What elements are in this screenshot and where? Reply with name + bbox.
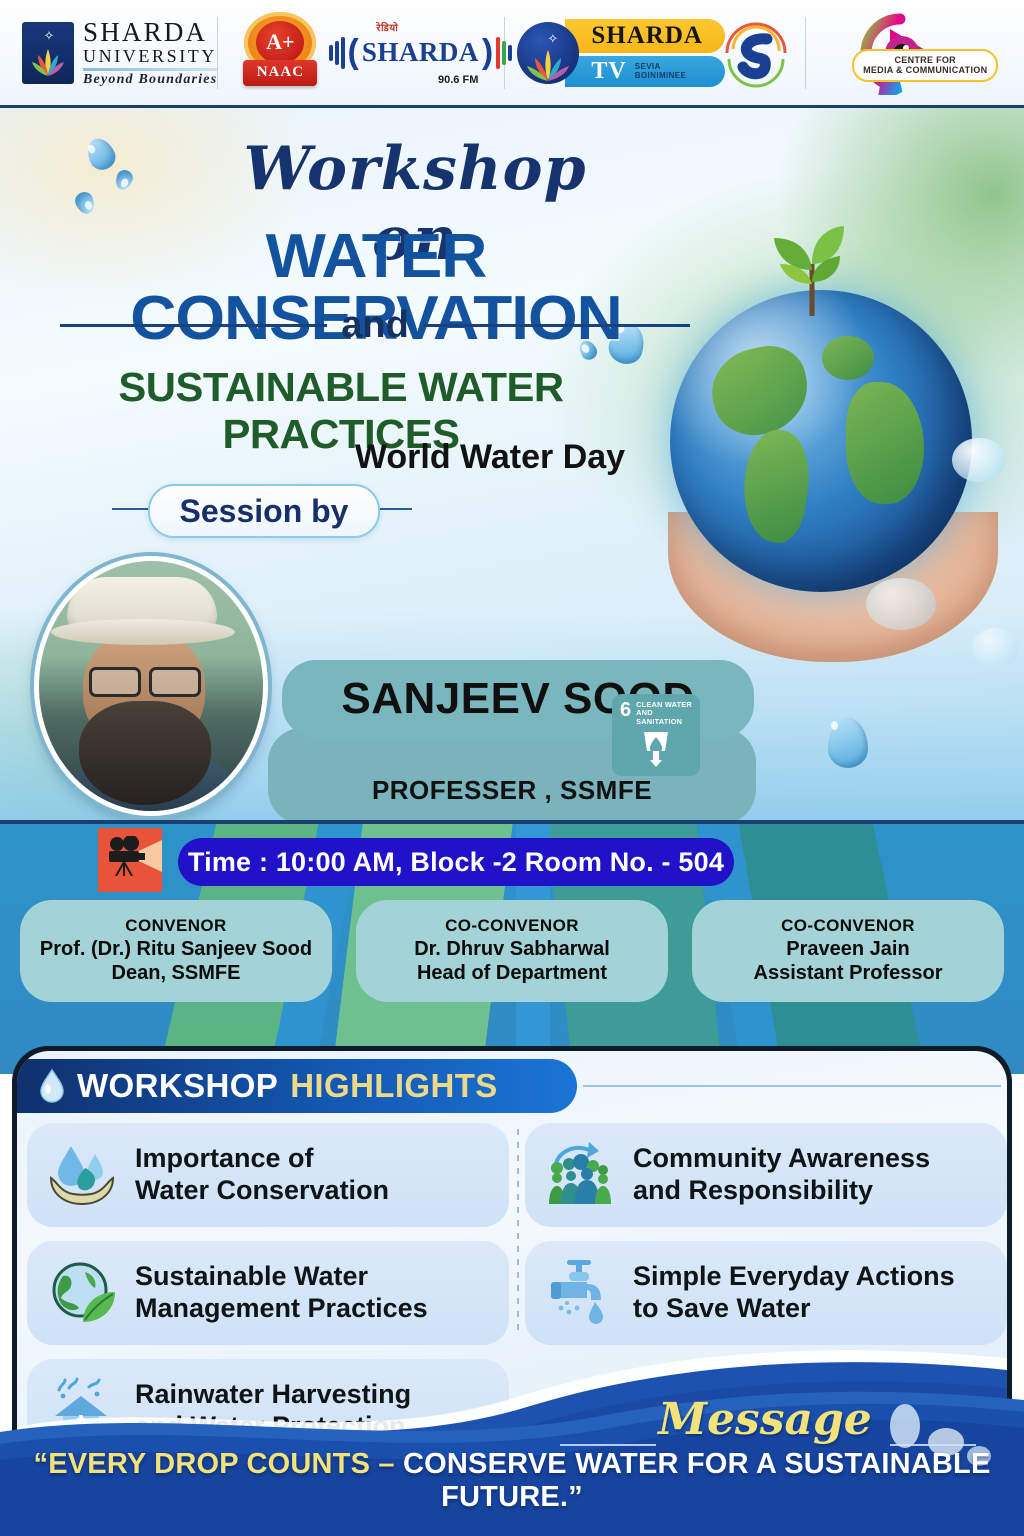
sdg-label-line2: AND SANITATION — [636, 709, 692, 726]
lotus-icon — [30, 47, 66, 77]
sponsor-logo-bar: ✧ SHARDA UNIVERSITY Beyond Boundaries — [0, 0, 1024, 108]
tv-tagline: SEVIA BOINIMINEE — [635, 62, 703, 80]
highlight-line1: Importance of — [135, 1143, 389, 1175]
time-venue-pill: Time : 10:00 AM, Block -2 Room No. - 504 — [178, 838, 734, 886]
highlights-heading-word1: WORKSHOP — [77, 1067, 278, 1105]
sharda-tv-globe-icon: ✧ — [517, 22, 579, 84]
people-group-icon — [543, 1138, 617, 1212]
organiser-card: CO-CONVENOR Dr. Dhruv Sabharwal Head of … — [356, 900, 668, 1002]
organiser-designation: Dean, SSMFE — [112, 961, 241, 985]
highlight-line2: and Responsibility — [633, 1175, 930, 1207]
hero-section: Workshop on WATER CONSERVATION and SUSTA… — [0, 108, 1024, 820]
splash-icon — [972, 628, 1018, 668]
left-paren: ( — [348, 33, 359, 72]
title-connector: and — [341, 304, 409, 347]
message-rule-right — [890, 1444, 976, 1446]
organiser-role: CONVENOR — [125, 916, 226, 937]
session-by-badge: Session by — [148, 484, 380, 538]
divider — [83, 68, 217, 71]
highlights-heading-word2: HIGHLIGHTS — [290, 1067, 498, 1105]
time-venue-text: Time : 10:00 AM, Block -2 Room No. - 504 — [188, 847, 724, 878]
list-item: Importance of Water Conservation — [27, 1123, 509, 1227]
lotus-star-emblem-icon: ✧ — [22, 22, 74, 84]
university-name-line2: UNIVERSITY — [83, 47, 217, 65]
occasion-label: World Water Day — [280, 438, 700, 477]
sharda-fm-radio-logo: रेडियो ( SHARDA ) 90.6 FM — [336, 0, 504, 105]
organiser-card: CO-CONVENOR Praveen Jain Assistant Profe… — [692, 900, 1004, 1002]
radio-frequency: 90.6 FM — [438, 74, 478, 86]
radio-name: SHARDA — [362, 37, 479, 68]
water-glass-drop-icon — [639, 729, 673, 767]
film-projector-icon — [98, 828, 162, 892]
organiser-designation: Assistant Professor — [754, 961, 943, 985]
rule-left — [60, 324, 327, 327]
tv-channel-label: TV — [591, 58, 626, 85]
organiser-name: Dr. Dhruv Sabharwal — [414, 937, 610, 961]
swirl-s-logo-icon — [717, 15, 795, 91]
splash-icon — [952, 438, 1006, 482]
session-by-label: Session by — [180, 493, 349, 530]
message-quote: “EVERY DROP COUNTS – CONSERVE WATER FOR … — [0, 1448, 1024, 1514]
sharda-tv-logo: ✧ SHARDA TV SEVIA BOINIMINEE — [517, 0, 713, 105]
organiser-name: Prof. (Dr.) Ritu Sanjeev Sood — [40, 937, 312, 961]
hands-holding-water-drop-icon — [45, 1138, 119, 1212]
sdg-number: 6 — [620, 701, 631, 719]
naac-grade: A+ — [266, 29, 294, 55]
highlight-line2: Water Conservation — [135, 1175, 389, 1207]
organiser-name: Praveen Jain — [786, 937, 909, 961]
naac-accreditation-logo: A+ NAAC — [232, 0, 328, 105]
naac-seal-icon: A+ NAAC — [232, 10, 328, 96]
divider — [217, 17, 218, 89]
poster-root: ✧ SHARDA UNIVERSITY Beyond Boundaries — [0, 0, 1024, 1536]
quote-highlight: “EVERY DROP COUNTS – — [34, 1448, 403, 1480]
avatar — [34, 556, 268, 816]
title-connector-row: and — [60, 304, 690, 347]
cmc-line2: MEDIA & COMMUNICATION — [863, 65, 987, 75]
right-paren: ) — [482, 33, 493, 72]
message-strip: Message “EVERY DROP COUNTS – CONSERVE WA… — [0, 1386, 1024, 1536]
glasses-icon — [89, 667, 201, 691]
university-tagline: Beyond Boundaries — [83, 73, 217, 87]
splash-icon — [866, 578, 936, 630]
rule-right — [423, 324, 690, 327]
organiser-role: CO-CONVENOR — [781, 916, 915, 937]
organiser-designation: Head of Department — [417, 961, 607, 985]
sprout-icon — [752, 224, 872, 316]
centre-for-media-communication-logo: CENTRE FOR MEDIA & COMMUNICATION — [806, 0, 1002, 105]
organiser-row: CONVENOR Prof. (Dr.) Ritu Sanjeev Sood D… — [0, 900, 1024, 1002]
water-droplets-icon — [113, 168, 135, 192]
highlight-line1: Sustainable Water — [135, 1261, 428, 1293]
swirl-logo — [717, 0, 795, 105]
water-droplets-icon — [82, 134, 119, 174]
water-drop-icon — [39, 1069, 65, 1103]
message-script-label: Message — [640, 1394, 890, 1445]
naac-body-label: NAAC — [257, 64, 304, 81]
sharda-university-logo: ✧ SHARDA UNIVERSITY Beyond Boundaries — [0, 0, 217, 105]
highlight-line1: Simple Everyday Actions — [633, 1261, 955, 1293]
highlight-line1: Community Awareness — [633, 1143, 930, 1175]
radio-waves-icon-right — [496, 37, 512, 69]
organiser-card: CONVENOR Prof. (Dr.) Ritu Sanjeev Sood D… — [20, 900, 332, 1002]
cmc-label: CENTRE FOR MEDIA & COMMUNICATION — [852, 49, 998, 82]
quote-rest: CONSERVE WATER FOR A SUSTAINABLE FUTURE.… — [403, 1448, 991, 1513]
list-item: Community Awareness and Responsibility — [525, 1123, 1007, 1227]
university-name-line1: SHARDA — [83, 19, 217, 46]
highlights-heading: WORKSHOP HIGHLIGHTS — [17, 1059, 577, 1113]
speaker-designation: PROFESSER , SSMFE — [372, 775, 652, 806]
heading-rule — [583, 1085, 1001, 1087]
organiser-role: CO-CONVENOR — [445, 916, 579, 937]
sdg-6-badge: 6 CLEAN WATER AND SANITATION — [612, 694, 700, 776]
radio-hindi-mark: रेडियो — [376, 20, 398, 34]
radio-waves-icon — [329, 37, 345, 69]
water-droplets-icon — [73, 190, 97, 217]
tv-brand-name: SHARDA — [591, 22, 703, 50]
cmc-line1: CENTRE FOR — [863, 55, 987, 65]
